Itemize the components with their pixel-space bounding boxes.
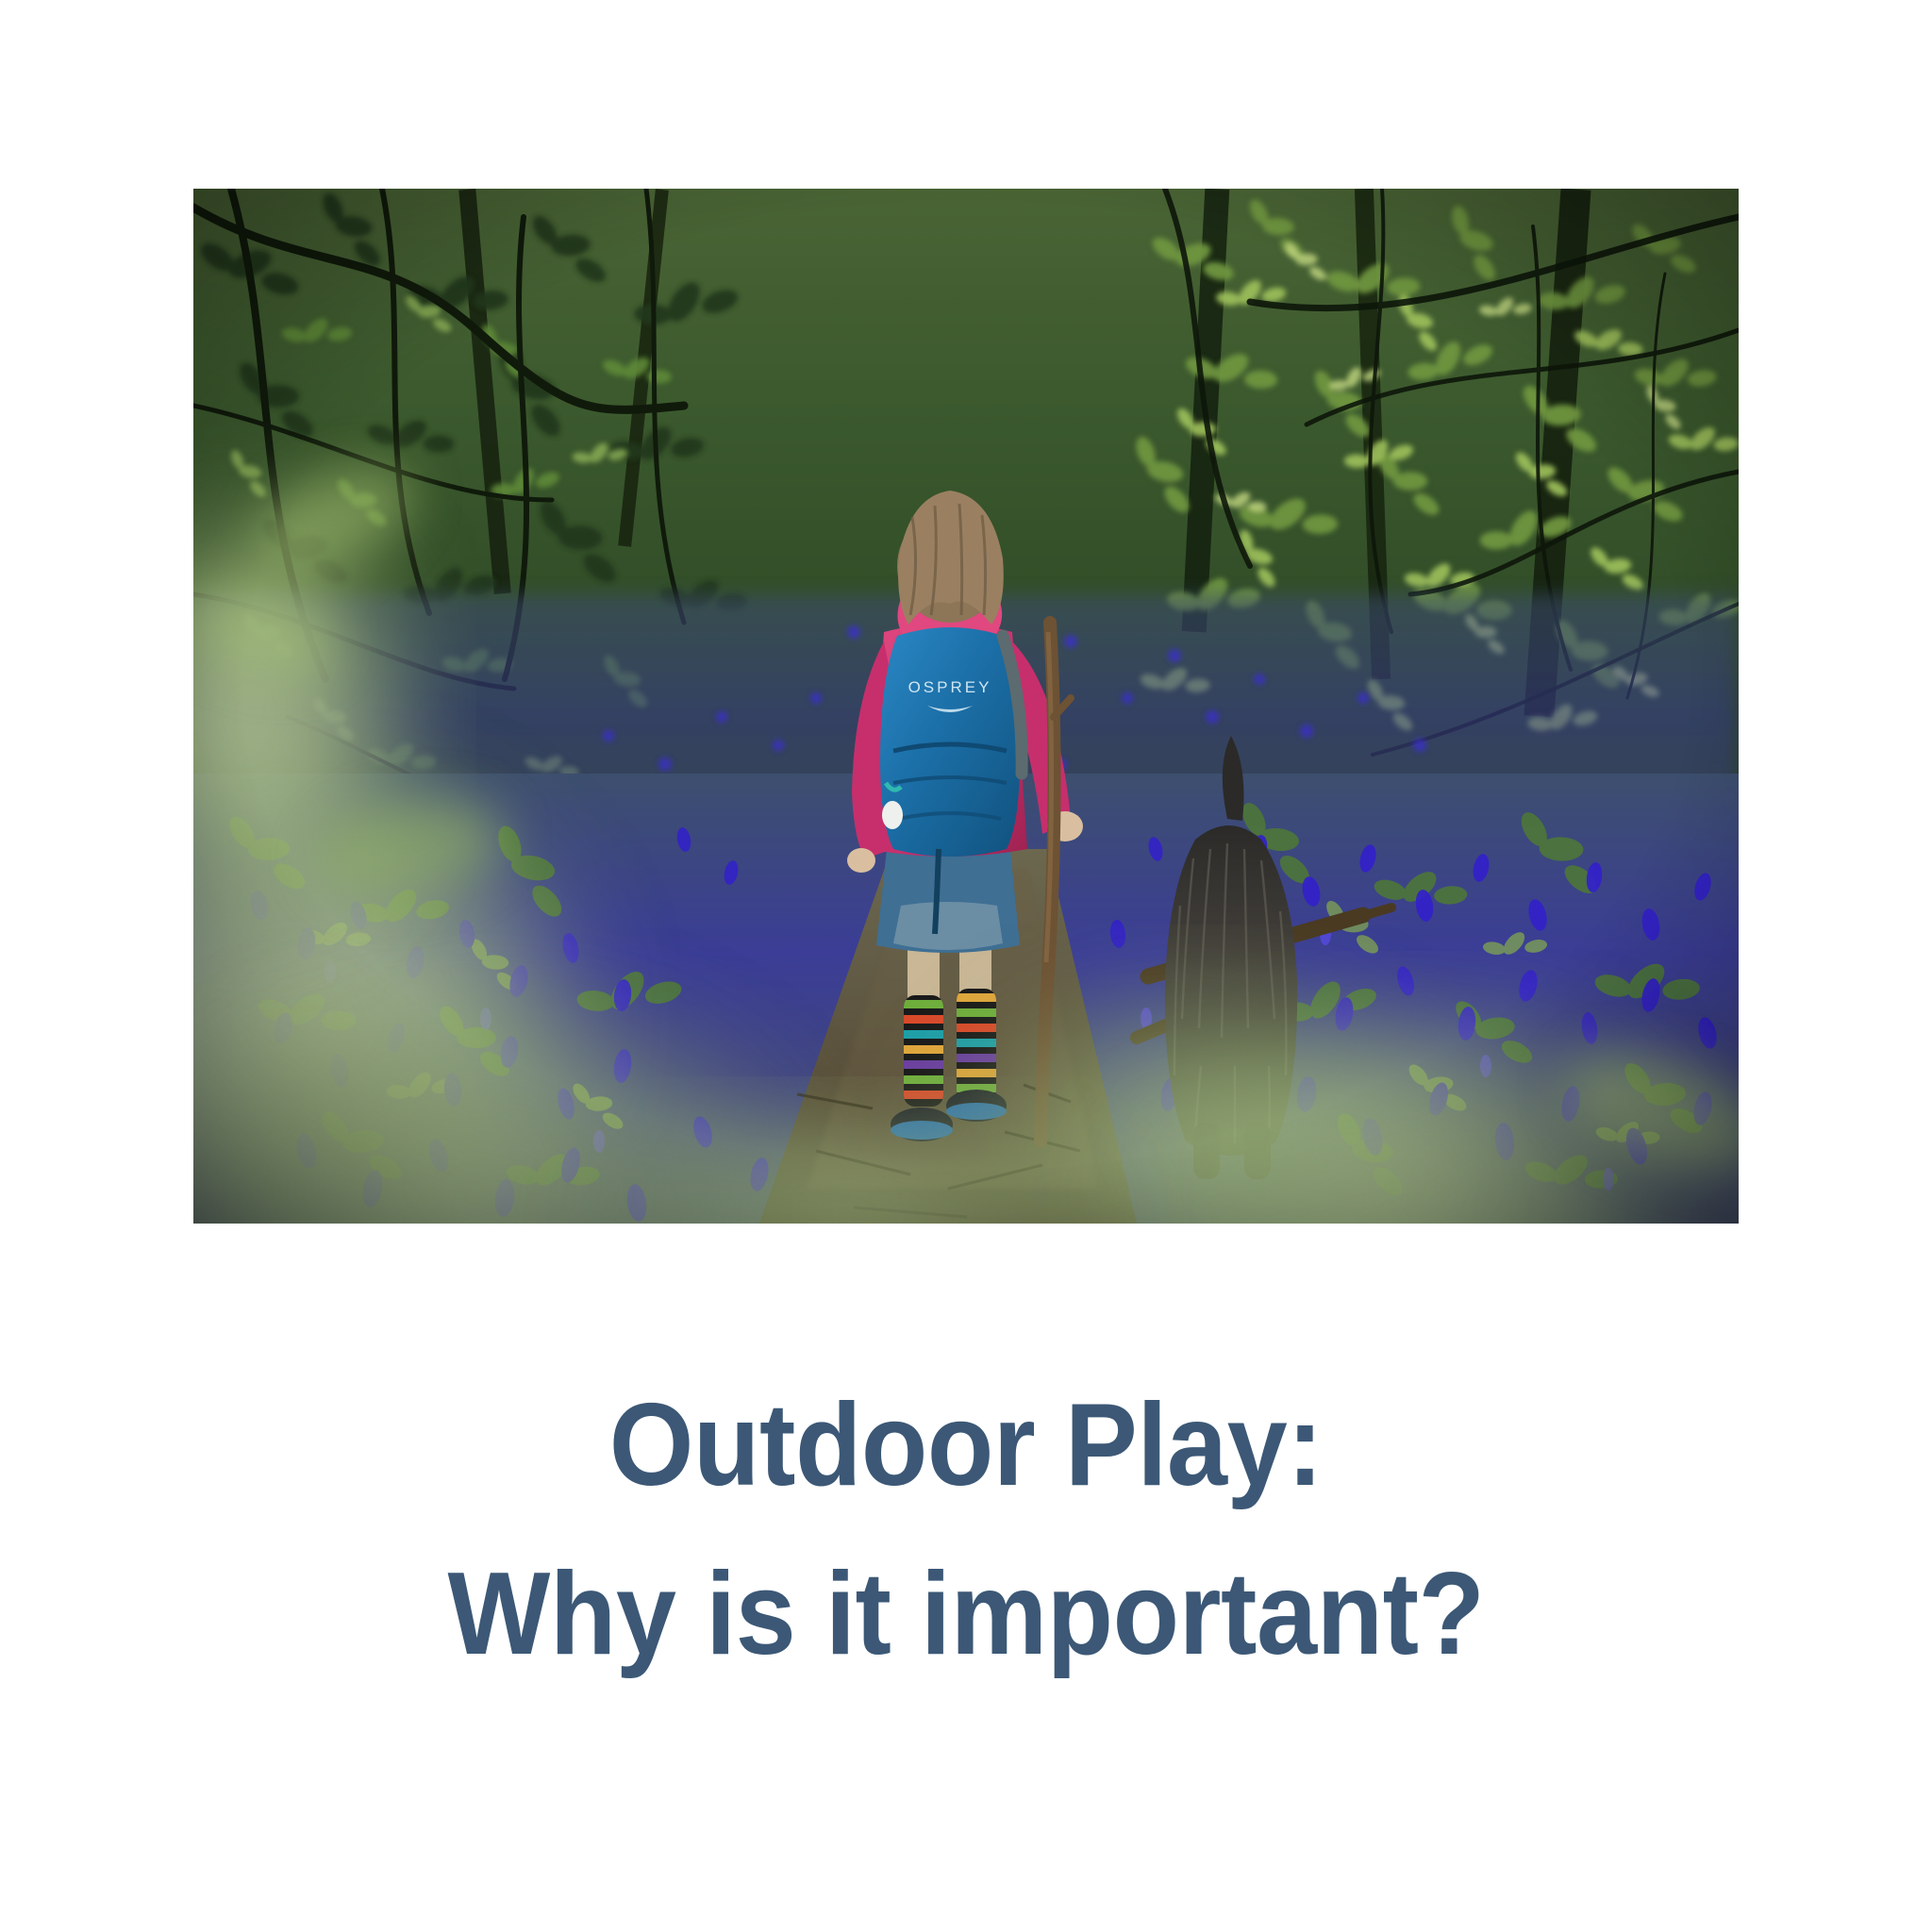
caption-line-1: Outdoor Play: <box>68 1370 1865 1522</box>
woodland-photo-illustration: OSPREY <box>193 189 1739 1224</box>
woodland-photo: OSPREY <box>193 189 1739 1224</box>
photo-vignette <box>193 189 1739 1224</box>
poster-caption: Outdoor Play: Why is it important? <box>0 1370 1932 1690</box>
caption-line-2: Why is it important? <box>68 1539 1865 1690</box>
poster-canvas: OSPREY <box>0 0 1932 1932</box>
